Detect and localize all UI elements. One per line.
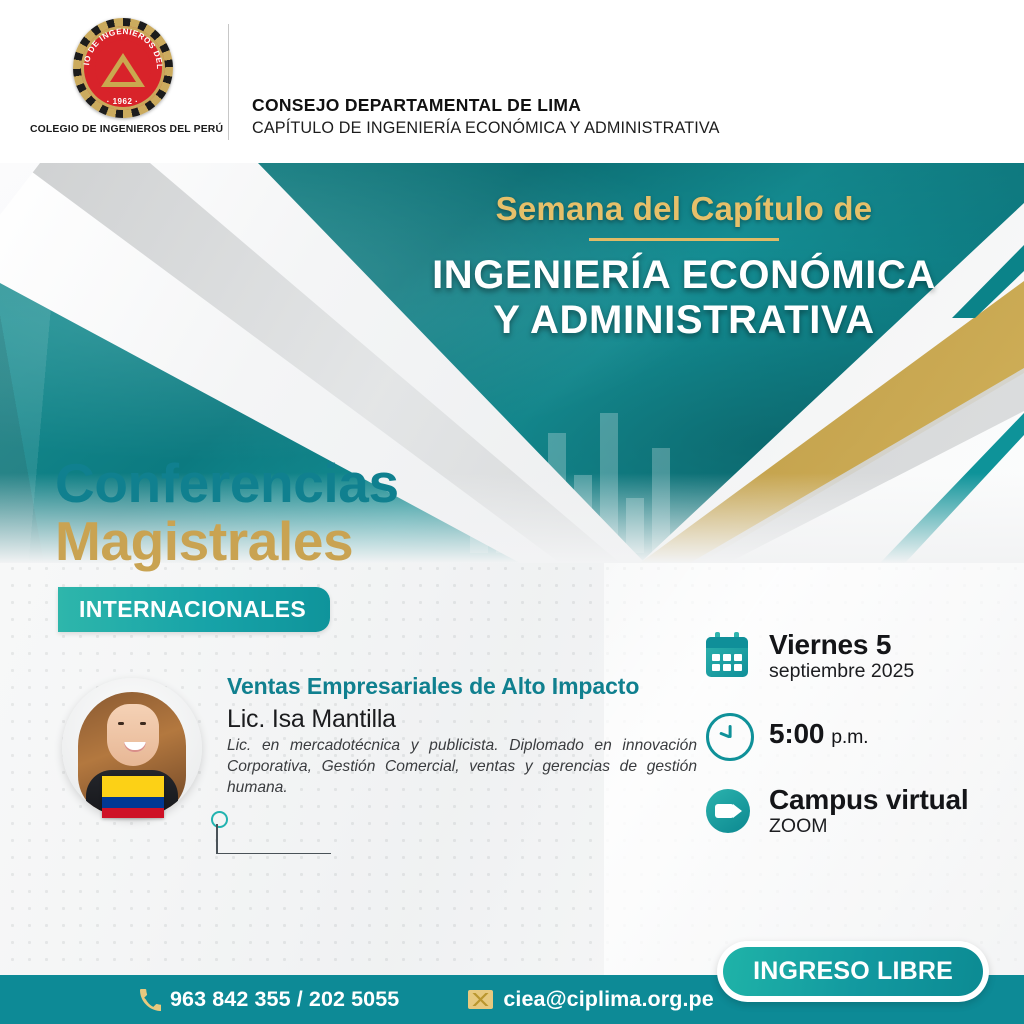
ingreso-libre-label: INGRESO LIBRE — [723, 947, 983, 996]
timeline-horizontal-line — [216, 853, 331, 855]
flag-stripe-yellow — [102, 776, 164, 797]
flag-stripe-red — [102, 808, 164, 819]
event-time-secondary: p.m. — [831, 726, 868, 748]
calendar-icon — [706, 633, 752, 679]
footer-email-text: ciea@ciplima.org.pe — [503, 987, 713, 1012]
poster-header: COLEGIO DE INGENIEROS DEL PERU · 1962 · … — [0, 0, 1024, 163]
avatar-eye-left — [118, 722, 124, 725]
header-text-block: CONSEJO DEPARTAMENTAL DE LIMA CAPÍTULO D… — [252, 95, 720, 138]
speaker-topic: Ventas Empresariales de Alto Impacto — [227, 672, 697, 700]
timeline-dot — [211, 811, 228, 828]
speaker-text-block: Ventas Empresariales de Alto Impacto Lic… — [227, 672, 697, 798]
header-divider — [228, 24, 229, 140]
event-place-primary: Campus virtual — [769, 785, 968, 814]
section-title-magistrales: Magistrales — [55, 513, 399, 569]
mail-icon — [468, 990, 493, 1009]
timeline-vertical-line — [216, 824, 218, 854]
event-info-block: Viernes 5 septiembre 2025 5:00p.m. Campu… — [706, 630, 968, 866]
ingreso-libre-button[interactable]: INGRESO LIBRE — [717, 941, 989, 1002]
footer-phone[interactable]: 963 842 355 / 202 5055 — [140, 987, 399, 1012]
section-title-conferencias: Conferencias — [55, 455, 399, 511]
event-date-row: Viernes 5 septiembre 2025 — [706, 630, 968, 683]
hero-eyebrow: Semana del Capítulo de — [404, 192, 964, 227]
event-date-secondary: septiembre 2025 — [769, 661, 914, 683]
hero-title-block: Semana del Capítulo de INGENIERÍA ECONÓM… — [404, 192, 964, 343]
event-poster: Semana del Capítulo de INGENIERÍA ECONÓM… — [0, 0, 1024, 1024]
footer-phone-text: 963 842 355 / 202 5055 — [170, 987, 399, 1012]
hero-divider-rule — [589, 238, 779, 241]
cip-seal-icon: COLEGIO DE INGENIEROS DEL PERU · 1962 · — [73, 18, 173, 118]
event-place-secondary: ZOOM — [769, 816, 968, 838]
event-date-primary: Viernes 5 — [769, 630, 914, 659]
svg-text:COLEGIO DE INGENIEROS DEL PERU: COLEGIO DE INGENIEROS DEL PERU — [73, 18, 164, 70]
video-camera-icon — [706, 788, 752, 834]
avatar-face — [107, 704, 159, 766]
phone-icon — [140, 988, 161, 1011]
event-place-row: Campus virtual ZOOM — [706, 785, 968, 838]
header-council-line: CONSEJO DEPARTAMENTAL DE LIMA — [252, 95, 720, 116]
clock-icon — [706, 711, 752, 757]
hero-title-line-1: INGENIERÍA ECONÓMICA — [404, 253, 964, 298]
speaker-name: Lic. Isa Mantilla — [227, 705, 697, 734]
flag-stripe-blue — [102, 797, 164, 808]
badge-internacionales: INTERNACIONALES — [58, 587, 330, 632]
header-chapter-line: CAPÍTULO DE INGENIERÍA ECONÓMICA Y ADMIN… — [252, 119, 720, 138]
section-title-block: Conferencias Magistrales INTERNACIONALES — [55, 455, 399, 632]
timeline-connector — [211, 811, 228, 828]
speaker-bio: Lic. en mercadotécnica y publicista. Dip… — [227, 736, 697, 798]
event-date-text: Viernes 5 septiembre 2025 — [769, 630, 914, 683]
event-time-row: 5:00p.m. — [706, 711, 968, 757]
footer-email[interactable]: ciea@ciplima.org.pe — [468, 987, 713, 1012]
logo-caption: COLEGIO DE INGENIEROS DEL PERÚ — [30, 124, 215, 135]
seal-year-text: · 1962 · — [73, 97, 173, 106]
event-time-text: 5:00p.m. — [769, 718, 868, 750]
event-time-primary: 5:00 — [769, 718, 824, 749]
colombia-flag-icon — [102, 776, 164, 818]
avatar-eye-right — [140, 722, 146, 725]
event-place-text: Campus virtual ZOOM — [769, 785, 968, 838]
cip-logo: COLEGIO DE INGENIEROS DEL PERU · 1962 · … — [30, 18, 215, 135]
hero-title-line-2: Y ADMINISTRATIVA — [404, 298, 964, 343]
